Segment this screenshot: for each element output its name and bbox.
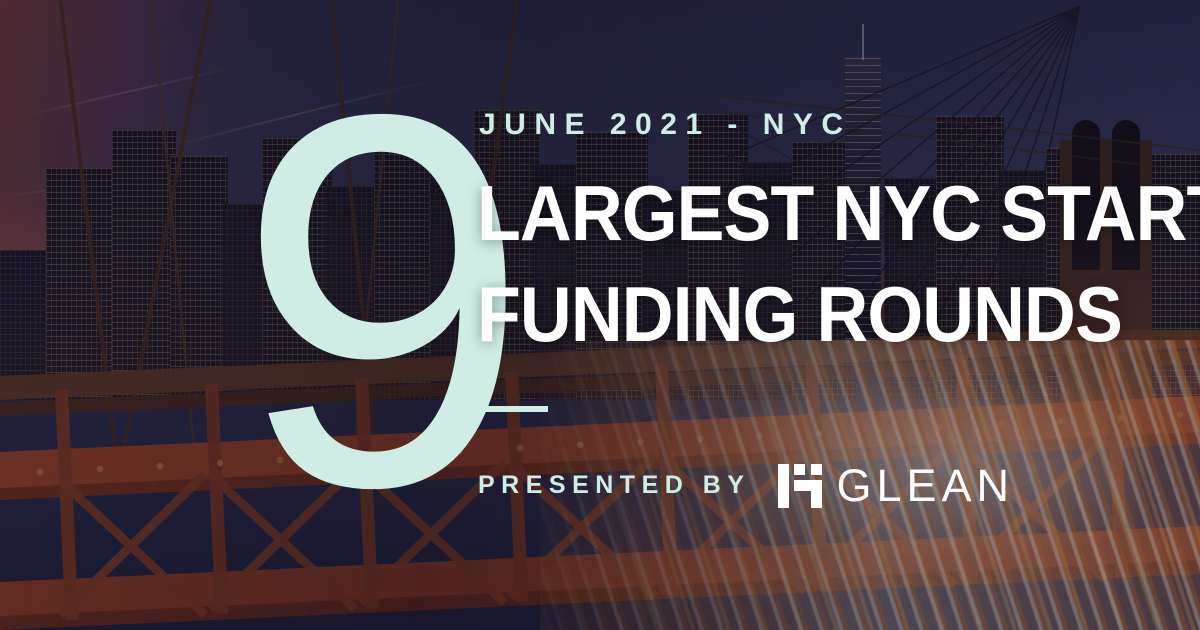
glean-wordmark: GLEAN xyxy=(836,463,1014,508)
title-divider xyxy=(478,406,548,412)
headline-line-1: LARGEST NYC STARTUP xyxy=(477,176,1084,251)
social-share-card: 9 JUNE 2021 - NYC LARGEST NYC STARTUP FU… xyxy=(0,0,1200,630)
presented-by-label: PRESENTED BY xyxy=(478,473,750,498)
glean-block-g-icon xyxy=(778,464,822,508)
card-content: 9 JUNE 2021 - NYC LARGEST NYC STARTUP FU… xyxy=(0,0,1200,630)
eyebrow-text: JUNE 2021 - NYC xyxy=(479,110,852,140)
presenter-lockup: PRESENTED BY GLEAN xyxy=(478,463,1014,508)
page-title: LARGEST NYC STARTUP FUNDING ROUNDS xyxy=(477,176,1137,352)
headline-line-2: FUNDING ROUNDS xyxy=(477,277,1084,352)
glean-logo[interactable]: GLEAN xyxy=(778,463,1014,508)
